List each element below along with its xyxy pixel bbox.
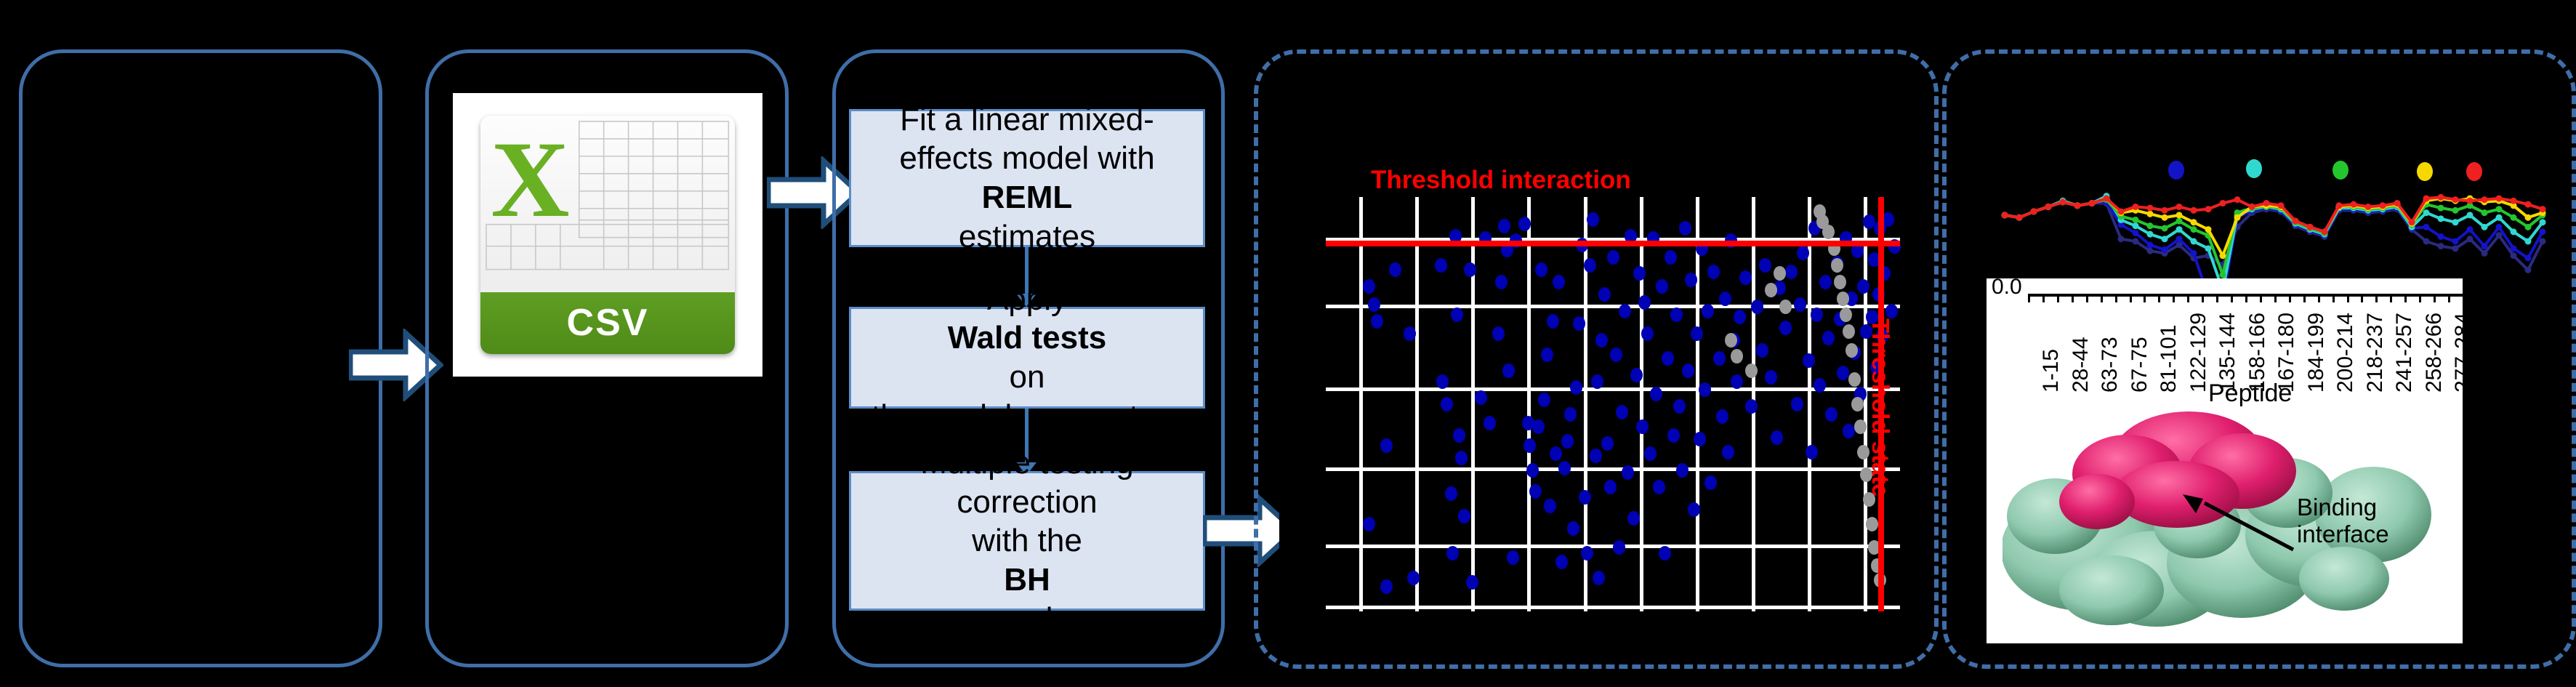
scatter-point-gray [1745, 363, 1758, 378]
line-marker [2423, 224, 2430, 230]
line-marker [2540, 219, 2546, 225]
scatter-point-blue [1811, 308, 1823, 322]
x-tick [2144, 294, 2146, 302]
step-bh-line1: Multiple testing [920, 443, 1133, 483]
line-marker [2278, 202, 2285, 209]
scatter-point-blue [1613, 540, 1625, 555]
scatter-point-blue [1803, 353, 1815, 368]
step-wald-line1: Apply Wald tests on [872, 280, 1183, 397]
line-marker [2482, 224, 2488, 230]
line-marker [2511, 214, 2517, 221]
scatter-point-blue [1524, 438, 1536, 453]
scatter-point-blue [1590, 449, 1602, 463]
scatter-point-blue [1685, 273, 1697, 287]
scatter-point-blue [1771, 430, 1783, 445]
line-marker [2496, 224, 2503, 230]
line-marker [2234, 214, 2241, 221]
step-bh-pre: with the [920, 521, 1133, 561]
scatter-point-blue [1550, 446, 1562, 461]
line-marker [2162, 236, 2168, 242]
peptide-tick-label: 241-257 [2392, 313, 2417, 393]
step-reml-line2: effects model with [899, 139, 1154, 178]
scatter-point-blue [1791, 397, 1803, 411]
peptide-tick-label: 258-266 [2422, 313, 2447, 393]
scatter-point-blue [1518, 217, 1531, 231]
legend-dot-series-4 [2417, 162, 2433, 181]
step-bh-line2: correction [920, 483, 1133, 522]
scatter-point-blue [1622, 465, 1634, 480]
line-marker [2409, 219, 2415, 225]
scatter-point-blue [1673, 399, 1686, 414]
scatter-point-blue [1538, 393, 1550, 407]
line-marker [2438, 194, 2444, 201]
binding-interface-line2: interface [2297, 521, 2389, 547]
line-marker [2060, 198, 2066, 205]
volcano-chart: Threshold interaction T [1279, 79, 1904, 631]
line-marker [2525, 254, 2532, 261]
scatter-point-blue [1819, 275, 1832, 289]
x-tick [2101, 294, 2103, 302]
scatter-point-blue [1587, 212, 1599, 227]
line-marker [2438, 205, 2444, 212]
peptide-tick-label: 28-44 [2069, 337, 2093, 393]
scatter-point-gray [1866, 517, 1878, 531]
line-marker [2147, 248, 2154, 254]
line-series-red [2005, 197, 2543, 232]
scatter-point-blue [1464, 262, 1476, 277]
scatter-point-gray [1846, 343, 1858, 358]
line-marker [2118, 236, 2125, 242]
x-tick [2158, 294, 2160, 302]
threshold-interaction-label: Threshold interaction [1371, 166, 1631, 195]
x-tick [2347, 294, 2349, 302]
x-tick [2448, 294, 2450, 302]
line-marker [2089, 200, 2096, 206]
scatter-point-blue [1363, 517, 1375, 531]
line-marker [2307, 224, 2314, 230]
scatter-point-blue [1656, 279, 1668, 294]
line-marker [2511, 228, 2517, 235]
scatter-point-blue [1691, 326, 1703, 341]
scatter-point-blue [1595, 333, 1608, 347]
csv-file-icon: X CSV [480, 116, 734, 354]
scatter-point-gray [1822, 225, 1835, 239]
peptide-tick-label: 200-214 [2333, 313, 2358, 393]
x-tick [2404, 294, 2407, 302]
scatter-point-blue [1759, 258, 1771, 273]
x-tick [2419, 294, 2421, 302]
line-marker [2525, 214, 2532, 221]
scatter-point-blue [1785, 265, 1798, 279]
volcano-plot-area [1326, 197, 1900, 611]
x-tick [2463, 294, 2465, 302]
scatter-point-blue [1598, 287, 1611, 302]
line-marker [2423, 195, 2430, 201]
line-marker [2176, 212, 2183, 218]
scatter-point-blue [1814, 378, 1826, 393]
line-marker [2176, 226, 2183, 233]
scatter-point-blue [1495, 275, 1508, 289]
line-marker [2438, 215, 2444, 222]
line-marker [2336, 202, 2343, 209]
line-marker [2496, 232, 2503, 238]
scatter-point-blue [1498, 219, 1510, 233]
line-marker [2496, 214, 2503, 221]
scatter-point-blue [1544, 499, 1556, 513]
legend-dot-series-3 [2333, 161, 2348, 180]
scatter-point-gray [1848, 372, 1861, 387]
scatter-point-blue [1699, 382, 1711, 397]
scatter-point-blue [1734, 310, 1746, 324]
x-tick [2361, 294, 2363, 302]
line-marker [2452, 207, 2459, 214]
scatter-point-blue [1466, 575, 1478, 590]
scatter-point-blue [1713, 351, 1726, 366]
scatter-point-gray [1774, 266, 1786, 281]
scatter-point-gray [1837, 292, 1849, 306]
line-marker [2191, 207, 2197, 214]
scatter-point-blue [1638, 295, 1651, 310]
scatter-point-blue [1704, 475, 1717, 490]
line-marker [2380, 202, 2386, 209]
x-tick [2303, 294, 2306, 302]
csv-label-band: CSV [480, 292, 734, 354]
scatter-point-gray [1851, 397, 1864, 411]
binding-interface-line1: Binding [2297, 494, 2377, 521]
line-marker [2467, 226, 2474, 233]
line-marker [2162, 246, 2168, 253]
scatter-point-blue [1636, 419, 1649, 434]
scatter-point-blue [1665, 250, 1677, 265]
x-tick [2173, 294, 2175, 302]
line-marker [2423, 209, 2430, 216]
scatter-point-blue [1616, 405, 1628, 419]
scatter-point-blue [1445, 486, 1457, 501]
x-tick [2390, 294, 2392, 302]
scatter-point-gray [1731, 349, 1743, 363]
line-marker [2540, 206, 2546, 212]
line-marker [2176, 218, 2183, 225]
line-marker [2205, 226, 2212, 233]
scatter-point-blue [1751, 300, 1763, 314]
scatter-point-blue [1389, 262, 1401, 277]
scatter-point-gray [1834, 275, 1846, 289]
x-axis-title: Peptide [2208, 379, 2292, 408]
scatter-point-blue [1779, 321, 1792, 335]
scatter-point-blue [1719, 292, 1731, 306]
scatter-point-blue [1453, 428, 1465, 443]
scatter-point-blue [1679, 221, 1691, 236]
line-marker [2147, 205, 2154, 212]
scatter-point-blue [1731, 374, 1743, 389]
y-axis-tick-label: 0.0 [1992, 275, 2022, 300]
line-marker [2452, 219, 2459, 225]
line-marker [2525, 201, 2532, 208]
input-stage-panel [19, 49, 382, 667]
x-axis-ticks [2028, 294, 2463, 304]
step-box-wald[interactable]: Apply Wald tests on the model parameters [849, 307, 1205, 409]
scatter-point-blue [1455, 451, 1468, 465]
line-marker [2162, 207, 2168, 214]
scatter-point-blue [1843, 424, 1855, 438]
x-tick [2115, 294, 2117, 302]
step-wald-bold: Wald tests [948, 320, 1106, 355]
line-marker [2423, 238, 2430, 245]
scatter-point-blue [1745, 399, 1758, 414]
scatter-point-blue [1610, 347, 1622, 362]
line-marker [2118, 209, 2125, 215]
scatter-point-blue [1446, 546, 1459, 561]
line-marker [2191, 250, 2197, 257]
step-reml-line3: REML estimates [899, 178, 1154, 256]
scatter-point-blue [1604, 480, 1617, 494]
scatter-point-blue [1555, 555, 1568, 569]
scatter-point-blue [1368, 297, 1380, 312]
scatter-point-blue [1380, 438, 1393, 453]
x-tick [2231, 294, 2233, 302]
scatter-point-blue [1529, 484, 1542, 499]
scatter-point-blue [1458, 509, 1470, 523]
scatter-point-blue [1641, 326, 1654, 341]
line-marker [2467, 198, 2474, 204]
line-marker [2452, 196, 2459, 203]
scatter-point-blue [1627, 511, 1640, 526]
scatter-point-blue [1682, 363, 1694, 378]
figure-canvas: X CSV Fit a linear mixed- effects model … [0, 0, 2576, 687]
peptide-tick-label: 81-101 [2157, 325, 2181, 393]
legend-dot-series-2 [2246, 159, 2262, 178]
scatter-point-blue [1567, 521, 1579, 536]
scatter-point-gray [1725, 333, 1737, 347]
scatter-point-blue [1371, 314, 1383, 329]
scatter-point-blue [1650, 387, 1662, 401]
scatter-point-blue [1707, 265, 1720, 279]
scatter-point-blue [1593, 571, 1605, 585]
x-tick [2187, 294, 2189, 302]
step-bh-line3: with the BH procedure [920, 521, 1133, 638]
line-marker [2220, 200, 2226, 206]
scatter-point-blue [1662, 351, 1674, 366]
scatter-point-blue [1564, 407, 1577, 422]
scatter-point-blue [1667, 428, 1680, 443]
scatter-point-blue [1702, 304, 1714, 318]
threshold-state-label: Threshold state [1867, 318, 1894, 497]
line-marker [2133, 238, 2139, 245]
line-marker [2205, 245, 2212, 252]
scatter-point-blue [1797, 246, 1809, 260]
x-tick [2072, 294, 2074, 302]
line-marker [2540, 238, 2546, 245]
scatter-point-blue [1441, 397, 1453, 411]
line-marker [2452, 238, 2459, 245]
scatter-point-blue [1716, 409, 1728, 424]
legend-dot-series-1 [2168, 161, 2184, 180]
scatter-point-blue [1407, 571, 1420, 585]
line-marker [2525, 238, 2532, 245]
line-marker [2016, 214, 2023, 221]
scatter-point-blue [1380, 579, 1393, 594]
line-marker [2293, 218, 2299, 225]
line-marker [2525, 267, 2532, 273]
legend-dot-series-5 [2466, 162, 2482, 181]
line-marker [2482, 243, 2488, 249]
x-tick [2318, 294, 2320, 302]
x-tick [2202, 294, 2204, 302]
scatter-point-blue [1722, 445, 1734, 459]
x-tick [2057, 294, 2059, 302]
line-marker [2220, 271, 2226, 278]
scatter-point-blue [1644, 446, 1657, 461]
x-tick [2042, 294, 2045, 302]
line-marker [2467, 212, 2474, 218]
scatter-point-blue [1541, 347, 1553, 362]
line-marker [2133, 230, 2139, 236]
peptide-tick-label: 122-129 [2186, 313, 2211, 393]
line-marker [2496, 206, 2503, 212]
line-marker [2234, 196, 2241, 203]
scatter-point-blue [1436, 374, 1449, 389]
scatter-point-blue [1435, 258, 1447, 273]
scatter-point-blue [1676, 463, 1689, 478]
line-marker [2191, 226, 2197, 233]
scatter-point-blue [1570, 380, 1582, 395]
line-marker [2249, 204, 2255, 210]
scatter-point-blue [1601, 436, 1614, 451]
peptide-tick-label: 218-237 [2363, 313, 2388, 393]
scatter-point-blue [1475, 390, 1487, 405]
scatter-point-blue [1404, 326, 1416, 341]
line-marker [2438, 233, 2444, 240]
step-box-reml[interactable]: Fit a linear mixed- effects model with R… [849, 109, 1205, 247]
scatter-point-blue [1547, 314, 1559, 329]
line-marker [2220, 252, 2226, 259]
scatter-point-gray [1831, 258, 1843, 273]
scatter-point-blue [1633, 266, 1646, 281]
line-marker [2147, 211, 2154, 217]
line-marker [2045, 204, 2052, 210]
excel-x-glyph: X [491, 125, 577, 225]
scatter-point-blue [1526, 463, 1539, 478]
line-marker [2511, 252, 2517, 259]
line-marker [2147, 241, 2154, 248]
line-marker [2496, 195, 2503, 201]
scatter-point-gray [1779, 300, 1792, 314]
line-marker [2205, 206, 2212, 212]
x-tick [2216, 294, 2218, 302]
line-marker [2176, 236, 2183, 242]
line-marker [2074, 202, 2081, 209]
scatter-point-blue [1561, 434, 1574, 449]
scatter-point-blue [1507, 550, 1519, 565]
step-wald-post: on [872, 358, 1183, 397]
line-marker [2133, 204, 2139, 210]
line-marker [2133, 222, 2139, 229]
scatter-point-blue [1484, 416, 1496, 430]
line-marker [2482, 209, 2488, 216]
x-tick [2260, 294, 2262, 302]
binding-interface-annotation: Binding interface [2297, 494, 2389, 548]
peptide-tick-label: 1-15 [2039, 349, 2064, 393]
step-reml-bold: REML [982, 180, 1073, 215]
scatter-point-blue [1553, 275, 1565, 289]
scatter-point-blue [1739, 270, 1752, 285]
scatter-point-blue [1653, 480, 1665, 494]
peptide-tick-label: 63-73 [2098, 337, 2122, 393]
scatter-point-blue [1863, 214, 1875, 229]
x-tick [2245, 294, 2247, 302]
scatter-points-layer [1326, 197, 1900, 611]
line-marker [2482, 250, 2488, 257]
line-marker [2147, 231, 2154, 238]
peptide-tick-label: 67-75 [2128, 337, 2152, 393]
scatter-point-blue [1794, 297, 1806, 312]
scatter-point-blue [1822, 331, 1835, 345]
scatter-point-blue [1492, 326, 1505, 341]
line-marker [2540, 228, 2546, 235]
step-bh-post: procedure [920, 600, 1133, 639]
line-marker [2394, 200, 2401, 206]
line-marker [2176, 204, 2183, 210]
line-marker [2002, 212, 2008, 218]
scatter-point-blue [1630, 368, 1643, 382]
scatter-point-blue [1363, 279, 1375, 294]
line-marker [2525, 224, 2532, 230]
line-marker [2191, 238, 2197, 245]
x-tick [2274, 294, 2277, 302]
line-marker [2104, 195, 2110, 201]
line-marker [2031, 209, 2037, 215]
scatter-point-blue [1806, 445, 1818, 459]
step-box-bh[interactable]: Multiple testing correction with the BH … [849, 471, 1205, 611]
line-marker [2482, 196, 2488, 203]
line-marker [2322, 228, 2328, 235]
line-marker [2351, 201, 2357, 208]
x-tick [2333, 294, 2335, 302]
peptide-tick-label: 277-284 [2451, 313, 2476, 393]
scatter-point-blue [1581, 546, 1593, 561]
step-bh-bold: BH [1004, 562, 1050, 598]
peptide-tick-label: 184-199 [2304, 313, 2329, 393]
scatter-point-blue [1688, 502, 1700, 517]
scatter-point-gray [1843, 324, 1855, 339]
scatter-point-blue [1573, 316, 1585, 331]
line-marker [2263, 200, 2270, 206]
scatter-point-blue [1584, 258, 1596, 273]
scatter-point-blue [1694, 432, 1706, 446]
line-marker [2452, 245, 2459, 252]
line-marker [2511, 245, 2517, 252]
x-tick [2028, 294, 2030, 302]
line-marker [2162, 214, 2168, 221]
scatter-point-blue [1619, 304, 1631, 318]
x-tick [2434, 294, 2436, 302]
scatter-point-gray [1840, 308, 1852, 322]
line-marker [2511, 198, 2517, 204]
csv-label-text: CSV [567, 301, 649, 345]
line-marker [2365, 204, 2372, 210]
scatter-point-blue [1451, 308, 1463, 322]
scatter-point-blue [1558, 461, 1571, 475]
scatter-point-blue [1765, 370, 1777, 385]
scatter-point-blue [1659, 546, 1671, 561]
scatter-point-blue [1579, 490, 1591, 505]
scatter-point-blue [1532, 419, 1545, 434]
scatter-point-blue [1670, 308, 1683, 322]
scatter-point-blue [1535, 262, 1547, 277]
scatter-point-gray [1854, 419, 1867, 434]
step-reml-line1: Fit a linear mixed- [899, 100, 1154, 140]
csv-icon-card: X CSV [453, 93, 762, 377]
